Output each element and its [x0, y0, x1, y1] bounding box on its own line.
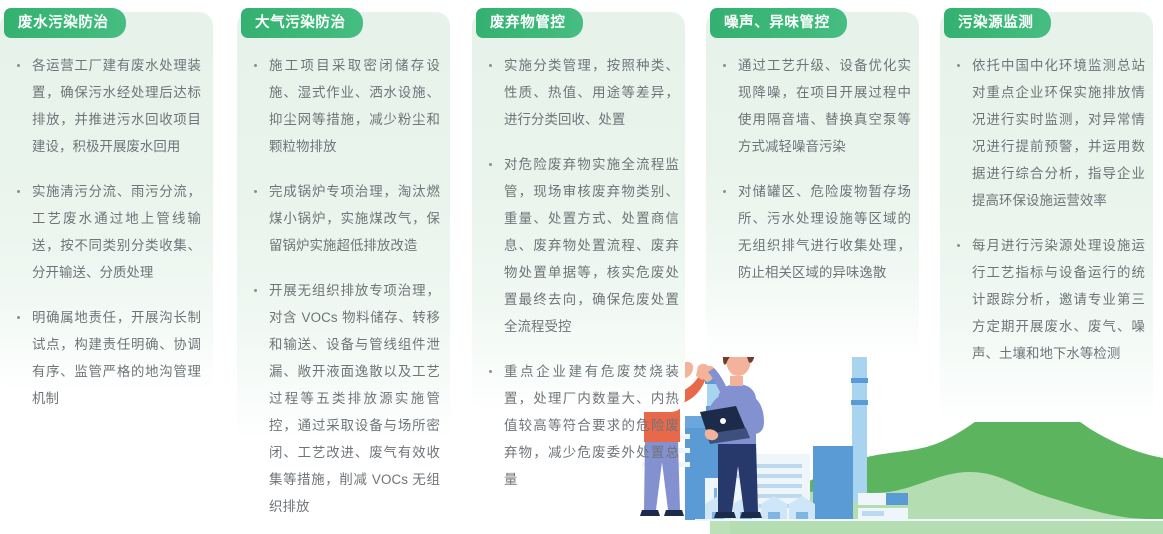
laptop-screen — [700, 406, 746, 436]
factory-right-tower — [813, 446, 853, 520]
person-right-hand-laptop — [705, 429, 718, 440]
list-item: 对储罐区、危险废物暂存场所、污水处理设施等区域的无组织排气进行收集处理，防止相关… — [716, 178, 911, 286]
ground-line — [695, 519, 1163, 521]
list-item: 施工项目采取密闭储存设施、湿式作业、洒水设施、抑尘网等措施，减少粉尘和颗粒物排放 — [247, 52, 440, 160]
list-item: 明确属地责任，开展沟长制试点，构建责任明确、协调有序、监管严格的地沟管理机制 — [10, 304, 201, 412]
list-item: 每月进行污染源处理设施运行工艺指标与设备运行的统计跟踪分析，邀请专业第三方定期开… — [950, 232, 1145, 367]
list-item: 依托中国中化环境监测总站对重点企业环保实施排放情况进行实时监测，对异常情况进行提… — [950, 52, 1145, 214]
card-body: 施工项目采取密闭储存设施、湿式作业、洒水设施、抑尘网等措施，减少粉尘和颗粒物排放… — [237, 52, 450, 520]
card-title: 噪声、异味管控 — [724, 16, 830, 31]
person-left-hand-near — [696, 364, 709, 380]
card-body: 实施分类管理，按照种类、性质、热值、用途等差异，进行分类回收、处置 对危险废弃物… — [472, 52, 685, 493]
person-right-torso — [718, 384, 756, 444]
person-right-shoe-1 — [714, 512, 736, 518]
chimney-tall — [852, 352, 867, 502]
card-body: 通过工艺升级、设备优化实现降噪，在项目开展过程中使用隔音墙、替换真空泵等方式减轻… — [706, 52, 919, 286]
list-item: 开展无组织排放专项治理，对含 VOCs 物料储存、转移和输送、设备与管线组件泄漏… — [247, 277, 440, 520]
person-right-legs — [718, 442, 758, 512]
factory-second-block — [728, 454, 810, 520]
shed-doors — [712, 512, 808, 520]
infographic-root: 废水污染防治 各运营工厂建有废水处理装置，确保污水经处理后达标排放，并推进污水回… — [0, 0, 1163, 534]
card-title: 大气污染防治 — [255, 16, 346, 31]
list-item: 完成锅炉专项治理，淘汰燃煤小锅炉，实施煤改气，保留锅炉实施超低排放改造 — [247, 178, 440, 259]
card-title: 废水污染防治 — [18, 16, 109, 31]
card-title: 污染源监测 — [958, 16, 1034, 31]
list-item: 重点企业建有危废焚烧装置，处理厂内数量大、内热值较高等符合要求的危险废弃物，减少… — [482, 358, 679, 493]
card-body: 各运营工厂建有废水处理装置，确保污水经处理后达标排放，并推进污水回收项目建设，积… — [0, 52, 213, 412]
person-left-shoe-2 — [664, 510, 684, 516]
card-header-air-pollution[interactable]: 大气污染防治 — [241, 8, 363, 38]
sawtooth-sheds — [705, 496, 815, 520]
list-item: 对危险废弃物实施全流程监管，现场审核废弃物类别、重量、处置方式、处置商信息、废弃… — [482, 151, 679, 340]
card-header-wastewater[interactable]: 废水污染防治 — [4, 8, 126, 38]
person-left-shoe-1 — [640, 510, 660, 516]
person-right-shoe-2 — [740, 512, 762, 518]
card-header-waste-control[interactable]: 废弃物管控 — [476, 8, 583, 38]
card-title: 废弃物管控 — [490, 16, 566, 31]
list-item: 通过工艺升级、设备优化实现降噪，在项目开展过程中使用隔音墙、替换真空泵等方式减轻… — [716, 52, 911, 160]
laptop-logo — [720, 418, 726, 424]
chimney-short — [707, 382, 720, 464]
laptop-base — [706, 428, 750, 444]
small-windows — [714, 488, 731, 513]
person-right-arm-raised — [708, 368, 728, 392]
person-right-neck — [730, 376, 743, 386]
person-right-arm-right — [748, 396, 764, 434]
hill-front-light — [710, 472, 1163, 534]
list-item: 实施清污分流、雨污分流，工艺废水通过地上管线输送，按不同类别分类收集、分开输送、… — [10, 178, 201, 286]
person-right-arm-left — [706, 396, 724, 426]
person-right — [700, 337, 764, 518]
list-item: 各运营工厂建有废水处理装置，确保污水经处理后达标排放，并推进污水回收项目建设，积… — [10, 52, 201, 160]
factory-left-small — [705, 478, 757, 520]
card-body: 依托中国中化环境监测总站对重点企业环保实施排放情况进行实时监测，对异常情况进行提… — [940, 52, 1153, 367]
factory-main-block — [685, 426, 752, 520]
person-right-hand-raised — [702, 366, 715, 382]
window-stripes — [736, 464, 802, 508]
list-item: 实施分类管理，按照种类、性质、热值、用途等差异，进行分类回收、处置 — [482, 52, 679, 133]
tank-unit — [858, 493, 908, 505]
card-header-noise-odor[interactable]: 噪声、异味管控 — [710, 8, 847, 38]
card-header-pollution-monitoring[interactable]: 污染源监测 — [944, 8, 1051, 38]
